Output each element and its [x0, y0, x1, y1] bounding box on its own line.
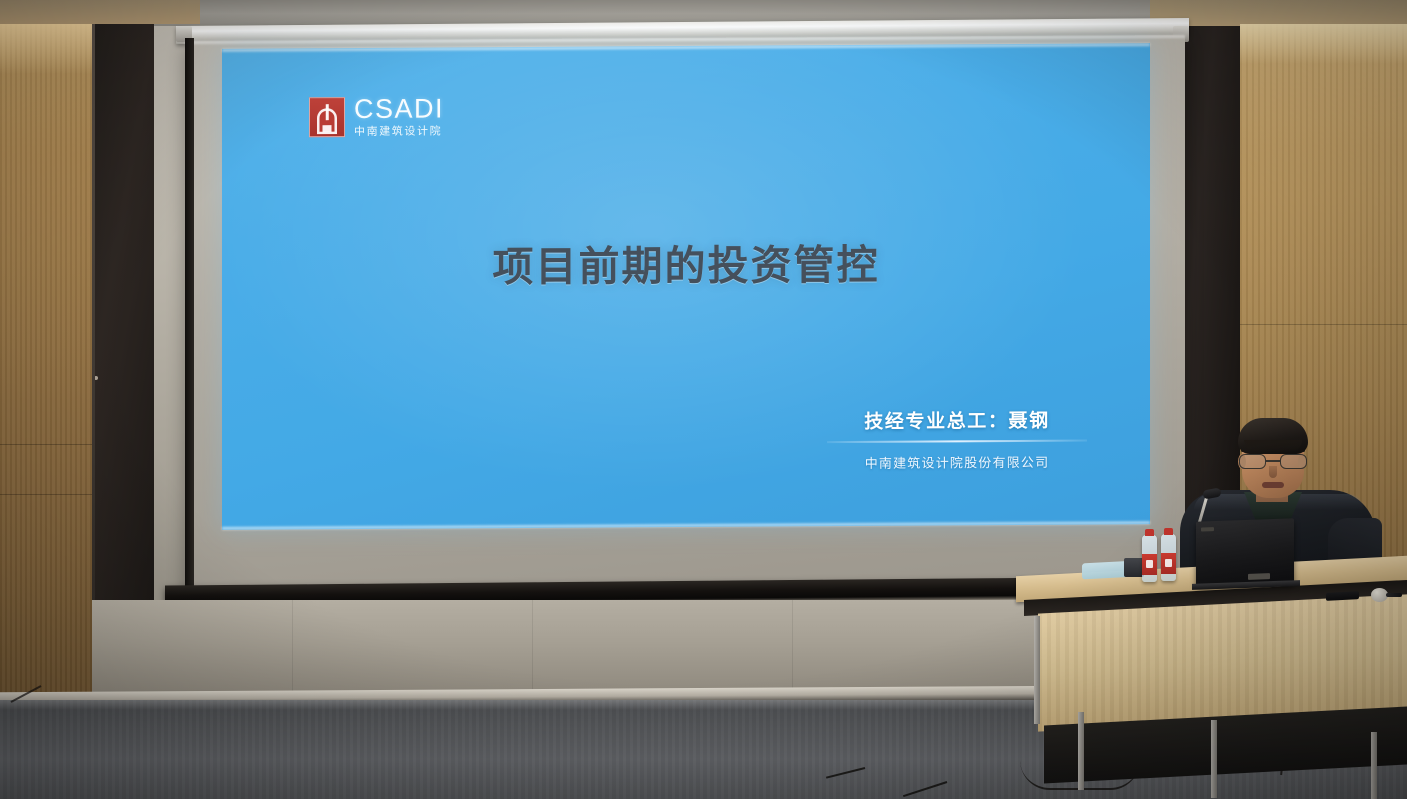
logo-chinese-text: 中南建筑设计院 — [354, 126, 444, 138]
slide-presenter-block: 技经专业总工：聂钢 中南建筑设计院股份有限公司 — [827, 406, 1087, 473]
photo-scene: CSADI 中南建筑设计院 项目前期的投资管控 技经专业总工：聂钢 中南建筑设计… — [0, 0, 1407, 799]
glasses-lens-left — [1239, 454, 1266, 469]
laptop-screen-back — [1196, 518, 1294, 586]
logo-stem-shape — [326, 104, 329, 120]
bottle-label-1 — [1142, 554, 1157, 575]
slide-title: 项目前期的投资管控 — [222, 229, 1150, 295]
logo-base-shape — [323, 125, 332, 132]
logo-english-text: CSADI — [354, 95, 444, 123]
presenter-mouth — [1262, 482, 1284, 488]
glasses-bridge — [1266, 460, 1280, 462]
laptop-lid-logo — [1201, 527, 1214, 531]
presenter-hair — [1238, 418, 1308, 454]
bottle-label-2 — [1161, 553, 1176, 574]
handheld-microphone — [1371, 588, 1388, 602]
bottle-cap-2 — [1164, 528, 1173, 535]
presenter-nose — [1269, 466, 1277, 478]
csadi-logo: CSADI 中南建筑设计院 — [309, 95, 444, 138]
laptop-badge — [1248, 573, 1270, 580]
lower-wall — [92, 600, 1112, 696]
presenter-name-line: 技经专业总工：聂钢 — [827, 406, 1087, 435]
presentation-slide: CSADI 中南建筑设计院 项目前期的投资管控 技经专业总工：聂钢 中南建筑设计… — [222, 43, 1150, 530]
right-wood-wall-highlight — [1240, 24, 1407, 64]
water-bottle-1 — [1142, 535, 1157, 582]
screen-left-dark-edge — [185, 38, 194, 600]
left-wood-wall-highlight — [0, 24, 92, 74]
desk-leg-2 — [1078, 712, 1084, 790]
desk-leg-1 — [1034, 616, 1040, 724]
presenter-divider — [827, 440, 1087, 444]
glasses-lens-right — [1280, 454, 1307, 469]
csadi-arch-logo-icon — [309, 97, 345, 137]
bottle-cap-1 — [1145, 529, 1154, 536]
desk-leg-3 — [1211, 720, 1217, 798]
wall-fixture-dot — [94, 376, 98, 380]
presenter-desk — [1016, 566, 1407, 799]
desk-leg-4 — [1371, 732, 1377, 799]
mobile-phone — [1326, 591, 1359, 601]
ceiling-wood-trim-left — [0, 0, 200, 24]
presenter-organization: 中南建筑设计院股份有限公司 — [827, 452, 1087, 473]
water-bottle-2 — [1161, 534, 1176, 581]
left-wood-wall-panel — [0, 24, 92, 714]
small-black-device — [1124, 558, 1144, 577]
logo-text-block: CSADI 中南建筑设计院 — [354, 95, 444, 138]
